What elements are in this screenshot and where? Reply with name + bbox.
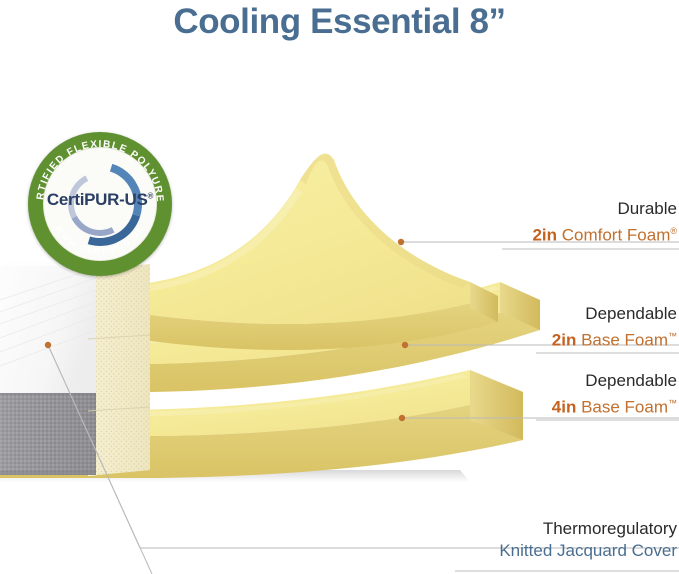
cover-gray-panel bbox=[0, 393, 96, 475]
badge-arc-top-text: CONTAINS CERTIFIED FLEXIBLE POLYURETHANE… bbox=[28, 132, 165, 203]
trademark-icon: ™ bbox=[668, 398, 677, 408]
callout-base-foam-4in-line1: Dependable bbox=[552, 370, 677, 392]
callout-jacquard-cover: Thermoregulatory Knitted Jacquard Cover bbox=[499, 518, 677, 562]
badge-arc-bottom-text: WWW.CERTIPUR.US bbox=[54, 223, 146, 256]
badge-arc-bottom-textpath: WWW.CERTIPUR.US bbox=[54, 223, 146, 256]
registered-icon: ® bbox=[670, 226, 677, 236]
callout-base-foam-4in-line2: 4in Base Foam™ bbox=[552, 392, 677, 419]
callout-comfort-foam-name: Comfort Foam bbox=[557, 226, 670, 245]
callout-base-foam-2in-qty: 2in bbox=[552, 331, 577, 350]
callout-base-foam-4in: Dependable 4in Base Foam™ bbox=[552, 370, 677, 419]
cover-cream-layer bbox=[88, 264, 150, 476]
badge-arc-text-group: CONTAINS CERTIFIED FLEXIBLE POLYURETHANE… bbox=[28, 132, 172, 276]
trademark-icon: ™ bbox=[668, 331, 677, 341]
callout-base-foam-4in-qty: 4in bbox=[552, 398, 577, 417]
certipur-us-badge: CertiPUR-US® CONTAINS CERTIFIED FLEXIBLE… bbox=[28, 132, 172, 276]
callout-base-foam-4in-name: Base Foam bbox=[576, 398, 668, 417]
callout-comfort-foam: Durable 2in Comfort Foam® bbox=[532, 198, 677, 247]
mattress-cutaway-illustration bbox=[0, 0, 679, 574]
callout-comfort-foam-qty: 2in bbox=[532, 226, 557, 245]
callout-base-foam-2in-line2: 2in Base Foam™ bbox=[552, 325, 677, 352]
callout-jacquard-cover-line2: Knitted Jacquard Cover bbox=[499, 540, 677, 562]
callout-comfort-foam-line1: Durable bbox=[532, 198, 677, 220]
callout-jacquard-cover-line1: Thermoregulatory bbox=[499, 518, 677, 540]
callout-comfort-foam-line2: 2in Comfort Foam® bbox=[532, 220, 677, 247]
badge-arc-top-textpath: CONTAINS CERTIFIED FLEXIBLE POLYURETHANE… bbox=[28, 132, 165, 203]
cover-white-panel bbox=[0, 262, 96, 393]
callout-base-foam-2in: Dependable 2in Base Foam™ bbox=[552, 303, 677, 352]
callout-base-foam-2in-line1: Dependable bbox=[552, 303, 677, 325]
callout-base-foam-2in-name: Base Foam bbox=[576, 331, 668, 350]
product-diagram-page: Cooling Essential 8” bbox=[0, 0, 679, 574]
